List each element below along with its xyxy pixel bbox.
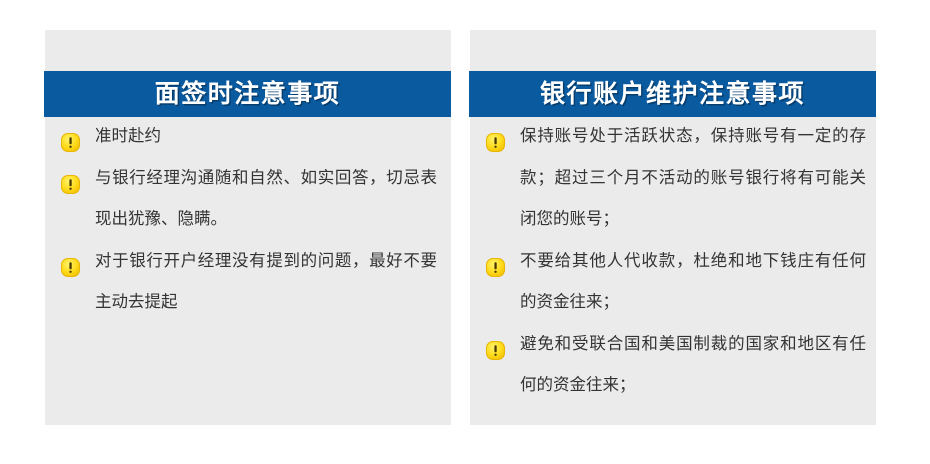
list-item-text: 对于银行开户经理没有提到的问题，最好不要主动去提起 <box>95 241 437 324</box>
notice-list-interview: 准时赴约 与银行经理沟通随和自然、如实回答，切忌表现出犹豫、隐瞒。 <box>45 116 451 324</box>
list-item: 避免和受联合国和美国制裁的国家和地区有任何的资金往来； <box>470 324 876 407</box>
notice-list-account-maintenance: 保持账号处于活跃状态，保持账号有一定的存款；超过三个月不活动的账号银行将有可能关… <box>470 116 876 407</box>
exclamation-icon <box>61 169 80 188</box>
list-item: 对于银行开户经理没有提到的问题，最好不要主动去提起 <box>45 241 451 324</box>
exclamation-icon <box>486 335 505 354</box>
list-item: 与银行经理沟通随和自然、如实回答，切忌表现出犹豫、隐瞒。 <box>45 158 451 241</box>
list-item: 不要给其他人代收款，杜绝和地下钱庄有任何的资金往来； <box>470 241 876 324</box>
list-item-text: 不要给其他人代收款，杜绝和地下钱庄有任何的资金往来； <box>520 241 866 324</box>
list-item: 保持账号处于活跃状态，保持账号有一定的存款；超过三个月不活动的账号银行将有可能关… <box>470 116 876 241</box>
list-item-text: 保持账号处于活跃状态，保持账号有一定的存款；超过三个月不活动的账号银行将有可能关… <box>520 116 866 241</box>
list-item: 准时赴约 <box>45 116 451 158</box>
panel-title-account-maintenance-notes: 银行账户维护注意事项 <box>469 71 876 117</box>
exclamation-icon <box>61 127 80 146</box>
panel-title-interview-notes: 面签时注意事项 <box>44 71 451 117</box>
exclamation-icon <box>486 252 505 271</box>
exclamation-icon <box>61 252 80 271</box>
notices-board: 面签时注意事项 <box>0 0 930 464</box>
list-item-text: 避免和受联合国和美国制裁的国家和地区有任何的资金往来； <box>520 324 866 407</box>
list-item-text: 与银行经理沟通随和自然、如实回答，切忌表现出犹豫、隐瞒。 <box>95 158 437 241</box>
list-item-text: 准时赴约 <box>95 116 437 158</box>
panel-interview-notes: 面签时注意事项 <box>45 30 451 425</box>
panel-account-maintenance-notes: 银行账户维护注意事项 保持账号处于活跃状态，保持账号有一定的存款；超过三个月不活… <box>470 30 876 425</box>
exclamation-icon <box>486 127 505 146</box>
